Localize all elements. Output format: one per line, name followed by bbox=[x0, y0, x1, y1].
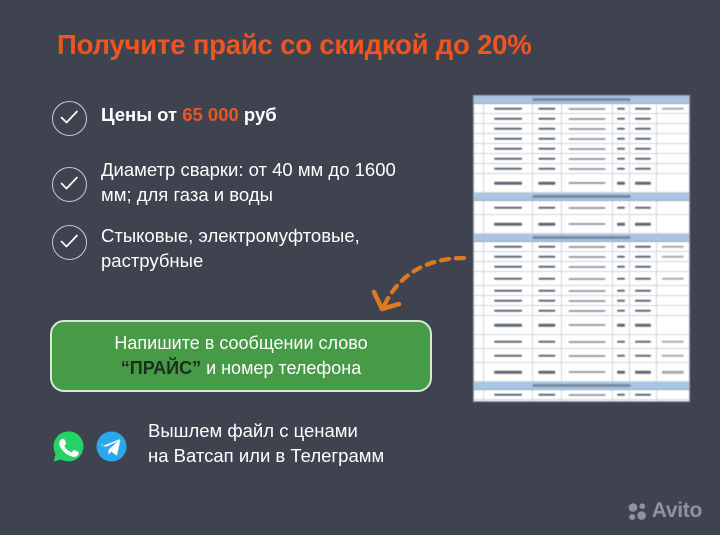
table-row bbox=[474, 400, 689, 402]
table-section-header bbox=[474, 382, 689, 390]
table-row bbox=[474, 316, 689, 335]
cta-box[interactable]: Напишите в сообщении слово “ПРАЙС” и ном… bbox=[50, 320, 432, 392]
table-row bbox=[474, 201, 689, 215]
telegram-icon[interactable] bbox=[95, 430, 128, 463]
table-row bbox=[474, 154, 689, 164]
list-item: Цены от 65 000 руб bbox=[52, 98, 452, 136]
table-row bbox=[474, 242, 689, 252]
table-section-header bbox=[474, 96, 689, 104]
table-row bbox=[474, 164, 689, 174]
table-row bbox=[474, 349, 689, 363]
cta-keyword: ПРАЙС bbox=[130, 358, 192, 378]
table-row bbox=[474, 335, 689, 349]
messenger-line-1: Вышлем файл с ценами bbox=[148, 418, 384, 443]
cta-line-2-rest: и номер телефона bbox=[201, 358, 361, 378]
table-row bbox=[474, 174, 689, 193]
list-item-label: Диаметр сварки: от 40 мм до 1600 мм; для… bbox=[101, 153, 431, 207]
table-row bbox=[474, 262, 689, 272]
avito-watermark: Avito bbox=[628, 499, 702, 523]
bullet-1-text-before: Цены от bbox=[101, 104, 182, 125]
messenger-icons bbox=[52, 430, 128, 463]
messenger-line-2: на Ватсап или в Телеграмм bbox=[148, 443, 384, 468]
table-section-header bbox=[474, 193, 689, 201]
table-row bbox=[474, 104, 689, 114]
table-row bbox=[474, 306, 689, 316]
cta-quote-close: ” bbox=[192, 358, 201, 378]
page-title: Получите прайс со скидкой до 20% bbox=[57, 29, 677, 61]
table-row bbox=[474, 286, 689, 296]
avito-dots-logo bbox=[628, 502, 647, 521]
cta-line-1: Напишите в сообщении слово bbox=[114, 331, 367, 356]
table-row bbox=[474, 272, 689, 286]
check-circle-icon bbox=[52, 101, 87, 136]
table-row bbox=[474, 124, 689, 134]
table-row bbox=[474, 390, 689, 400]
list-item-label: Цены от 65 000 руб bbox=[101, 98, 277, 127]
table-row bbox=[474, 134, 689, 144]
bullet-1-text-after: руб bbox=[239, 104, 277, 125]
bullet-1-highlight: 65 000 bbox=[182, 104, 239, 125]
table-row bbox=[474, 144, 689, 154]
whatsapp-icon[interactable] bbox=[52, 430, 85, 463]
table-row bbox=[474, 363, 689, 382]
curved-dashed-arrow-icon bbox=[352, 250, 472, 330]
cta-quote-open: “ bbox=[121, 358, 130, 378]
messenger-text: Вышлем файл с ценами на Ватсап или в Тел… bbox=[148, 418, 384, 468]
feature-list: Цены от 65 000 руб Диаметр сварки: от 40… bbox=[52, 98, 452, 273]
check-circle-icon bbox=[52, 225, 87, 260]
cta-line-2: “ПРАЙС” и номер телефона bbox=[121, 356, 361, 381]
table-row bbox=[474, 252, 689, 262]
table-row bbox=[474, 215, 689, 234]
table-row bbox=[474, 296, 689, 306]
price-list-image bbox=[473, 95, 690, 402]
avito-label: Avito bbox=[652, 499, 702, 523]
list-item: Диаметр сварки: от 40 мм до 1600 мм; для… bbox=[52, 153, 452, 207]
messenger-row: Вышлем файл с ценами на Ватсап или в Тел… bbox=[52, 418, 384, 468]
ad-banner: Получите прайс со скидкой до 20% Цены от… bbox=[0, 0, 720, 535]
check-circle-icon bbox=[52, 167, 87, 202]
table-section-header bbox=[474, 234, 689, 242]
table-row bbox=[474, 114, 689, 124]
